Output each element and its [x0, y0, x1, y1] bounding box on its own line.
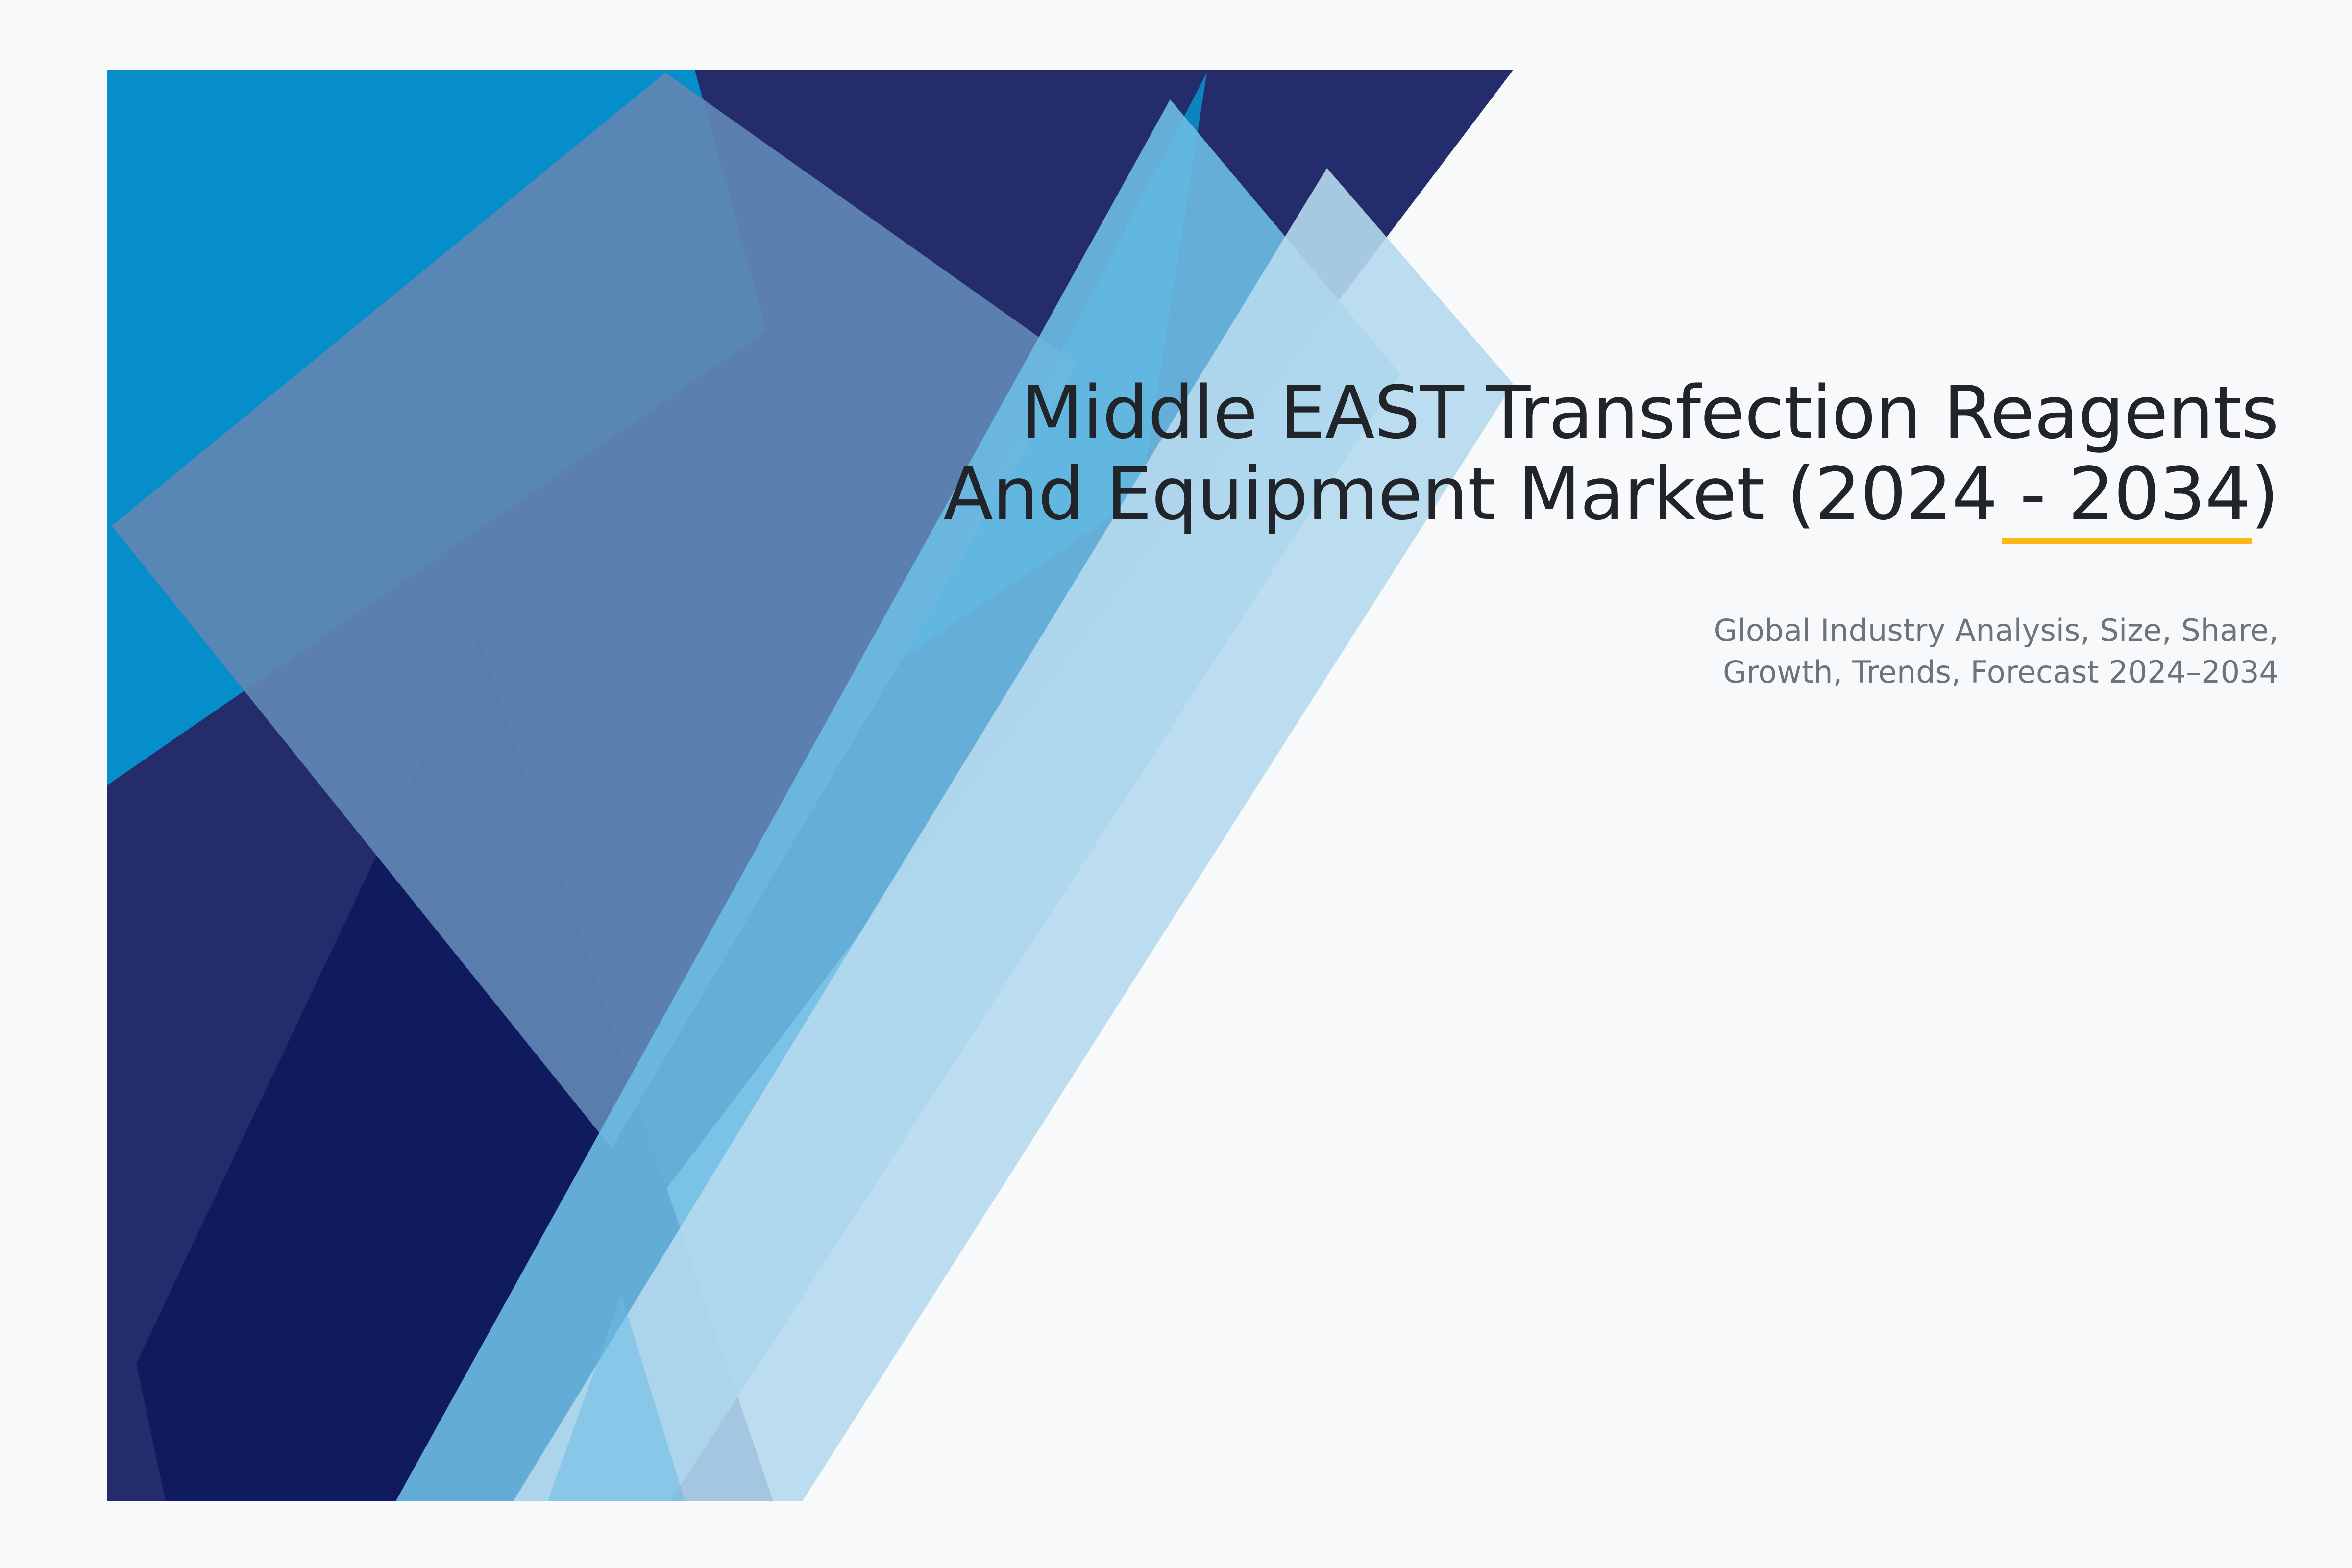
hero-text-block: Middle EAST Transfection Reagents And Eq… — [857, 372, 2278, 693]
page-subtitle-line-1: Global Industry Analysis, Size, Share, — [857, 610, 2278, 652]
page-title: Middle EAST Transfection Reagents And Eq… — [857, 372, 2278, 535]
artwork-svg — [107, 70, 1513, 1501]
report-cover-page: Middle EAST Transfection Reagents And Eq… — [0, 0, 2352, 1568]
abstract-geometric-artwork — [107, 70, 1513, 1501]
page-title-line-1: Middle EAST Transfection Reagents — [857, 372, 2278, 454]
title-accent-underline — [2002, 538, 2252, 544]
page-subtitle-line-2: Growth, Trends, Forecast 2024–2034 — [857, 651, 2278, 693]
page-subtitle: Global Industry Analysis, Size, Share, G… — [857, 610, 2278, 693]
page-title-line-2: And Equipment Market (2024 - 2034) — [857, 454, 2278, 535]
